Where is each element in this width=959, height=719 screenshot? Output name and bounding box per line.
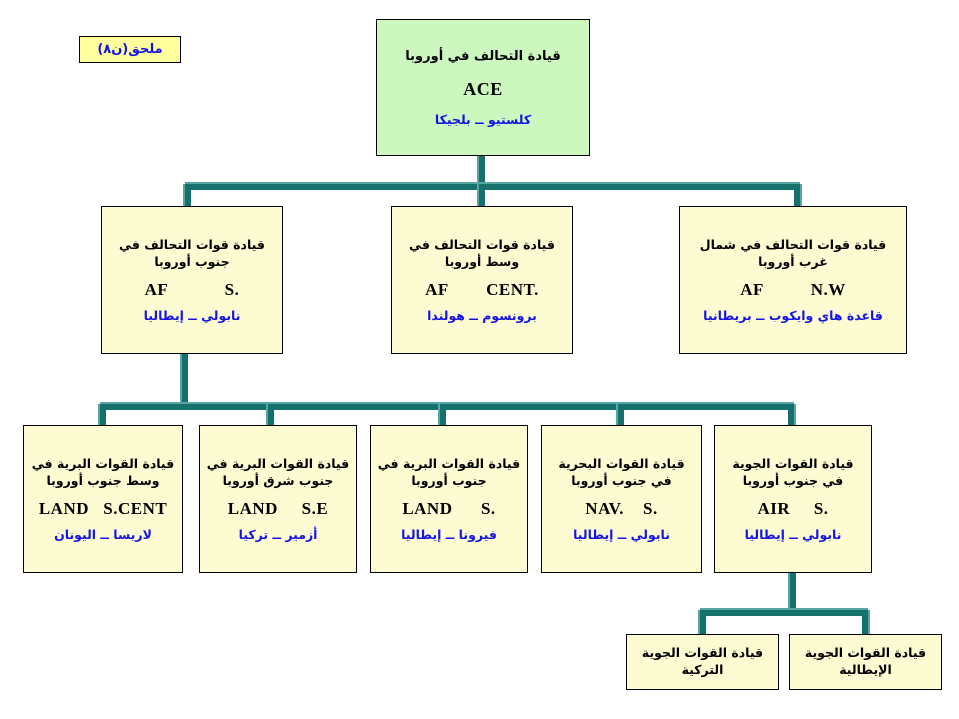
node-land-southeast[interactable]: قيادة القوات البرية في جنوب شرق أوروبا L… (199, 425, 357, 573)
node-af-cent[interactable]: قيادة قوات التحالف في وسط أوروبا AF CENT… (391, 206, 573, 354)
node-af-south[interactable]: قيادة قوات التحالف في جنوب أوروبا AF S. … (101, 206, 283, 354)
node-land-south-cent[interactable]: قيادة القوات البرية في وسط جنوب أوروبا L… (23, 425, 183, 573)
connector-drop-landse (268, 404, 274, 427)
node-air-south-title: قيادة القوات الجوية في جنوب أوروبا (720, 456, 866, 490)
node-af-northwest[interactable]: قيادة قوات التحالف في شمال غرب أوروبا AF… (679, 206, 907, 354)
node-af-south-title: قيادة قوات التحالف في جنوب أوروبا (107, 237, 277, 271)
connector-drop-italian (862, 610, 868, 635)
connector-drop-turkish (700, 610, 706, 635)
node-turkish-air-force[interactable]: قيادة القوات الجوية التركية (626, 634, 779, 690)
node-turkish-air-force-title: قيادة القوات الجوية التركية (632, 645, 773, 679)
node-af-south-location: نابولي ــ إيطاليا (144, 308, 241, 323)
connector-afsouth-stem (182, 354, 188, 407)
connector-drop-navs (618, 404, 624, 427)
connector-row3-bus (700, 610, 868, 616)
connector-row2-bus (100, 404, 794, 410)
connector-airs-stem (790, 573, 796, 613)
node-land-southeast-location: أزمير ــ تركيا (239, 527, 318, 542)
node-land-southeast-title: قيادة القوات البرية في جنوب شرق أوروبا (205, 456, 351, 490)
annex-label: ملحق(ن٨) (79, 36, 181, 63)
node-af-cent-code: AF CENT. (425, 280, 539, 300)
connector-drop-afsouth (185, 184, 191, 207)
node-land-south-cent-location: لاريسا ــ اليونان (54, 527, 152, 542)
connector-drop-landscent (100, 404, 106, 427)
node-ace-code: ACE (463, 79, 503, 100)
node-af-northwest-title: قيادة قوات التحالف في شمال غرب أوروبا (685, 237, 901, 271)
node-ace-location: كلستيو ــ بلجيكا (435, 112, 531, 127)
node-nav-south-code: NAV. S. (585, 499, 657, 519)
node-air-south-location: نابولي ــ إيطاليا (745, 527, 842, 542)
node-land-south-cent-code: LAND S.CENT (39, 499, 167, 519)
node-ace[interactable]: قيادة التحالف في أوروبا ACE كلستيو ــ بل… (376, 19, 590, 156)
connector-drop-lands (440, 404, 446, 427)
node-land-south-title: قيادة القوات البرية في جنوب أوروبا (376, 456, 522, 490)
node-air-south[interactable]: قيادة القوات الجوية في جنوب أوروبا AIR S… (714, 425, 872, 573)
node-af-cent-title: قيادة قوات التحالف في وسط أوروبا (397, 237, 567, 271)
node-land-southeast-code: LAND S.E (228, 499, 328, 519)
connector-drop-afnw (794, 184, 800, 207)
node-nav-south-title: قيادة القوات البحرية في جنوب أوروبا (547, 456, 696, 490)
connector-drop-afcent (479, 184, 485, 207)
node-af-northwest-location: قاعدة هاي وايكوب ــ بريطانيا (703, 308, 883, 323)
node-land-south-location: فيرونا ــ إيطاليا (401, 527, 497, 542)
node-nav-south[interactable]: قيادة القوات البحرية في جنوب أوروبا NAV.… (541, 425, 702, 573)
node-af-northwest-code: AF N.W (740, 280, 846, 300)
node-italian-air-force-title: قيادة القوات الجوية الإيطالية (795, 645, 936, 679)
connector-row1-bus (185, 184, 800, 190)
node-land-south-code: LAND S. (402, 499, 495, 519)
node-af-cent-location: برونسوم ــ هولندا (427, 308, 537, 323)
node-ace-title: قيادة التحالف في أوروبا (405, 48, 560, 66)
org-chart-canvas: ملحق(ن٨) قيادة التحالف في أوروبا ACE كلس… (0, 0, 959, 719)
node-af-south-code: AF S. (145, 280, 240, 300)
node-air-south-code: AIR S. (757, 499, 828, 519)
node-land-south[interactable]: قيادة القوات البرية في جنوب أوروبا LAND … (370, 425, 528, 573)
connector-drop-airs (788, 404, 794, 427)
node-nav-south-location: نابولي ــ إيطاليا (573, 527, 670, 542)
node-italian-air-force[interactable]: قيادة القوات الجوية الإيطالية (789, 634, 942, 690)
node-land-south-cent-title: قيادة القوات البرية في وسط جنوب أوروبا (29, 456, 177, 490)
